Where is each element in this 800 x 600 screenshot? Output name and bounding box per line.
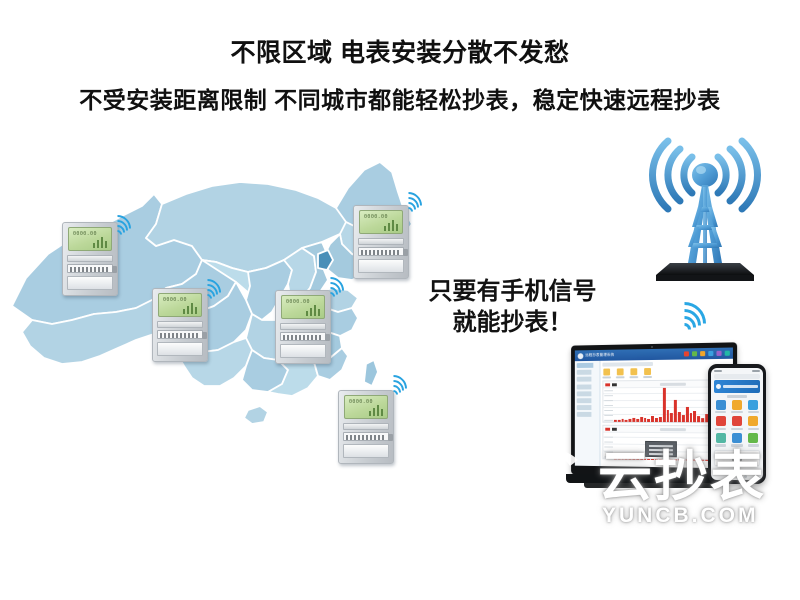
app-logo-icon [716, 384, 721, 389]
bar [629, 419, 632, 422]
poster-canvas: 不限区域 电表安装分散不发愁 不受安装距离限制 不同城市都能轻松抄表，稳定快速远… [0, 0, 800, 600]
app-toolbar-icons [684, 351, 730, 357]
status-bar [711, 368, 763, 373]
watermark-brand: 云抄表 [598, 448, 766, 506]
bar [674, 400, 677, 422]
bar [625, 420, 628, 422]
cell-tower-svg [640, 135, 770, 285]
meter-register [157, 330, 203, 339]
wifi-icon [664, 302, 704, 334]
legend-previous-icon [612, 383, 617, 386]
bar [621, 419, 624, 422]
meter-button[interactable] [112, 266, 117, 273]
toolbar-button-print[interactable] [629, 368, 638, 378]
meter-bars-icon [93, 237, 107, 248]
sidebar-item-realtime[interactable] [577, 370, 598, 375]
app-title: 远程抄表管理系统 [585, 353, 614, 358]
app-tile[interactable] [730, 416, 743, 430]
section-title [727, 395, 748, 398]
meter-register [343, 432, 389, 441]
meter-bars-icon [384, 220, 398, 231]
bar [686, 407, 689, 422]
electric-meter-southeast: 0000.00 [338, 390, 394, 464]
camera-icon [651, 346, 653, 348]
slogan-line-1: 只要有手机信号 [410, 276, 615, 307]
phone-app-title [723, 385, 758, 388]
meter-lcd-display: 0000.00 [344, 395, 388, 419]
bar [701, 419, 704, 423]
bar [663, 388, 666, 422]
share-icon[interactable] [725, 351, 730, 356]
app-tile-label [731, 428, 742, 430]
app-logo-icon [578, 353, 584, 359]
meter-button[interactable] [403, 249, 408, 256]
meter-button[interactable] [202, 332, 207, 339]
meter-button[interactable] [388, 434, 393, 441]
meter-nameplate [67, 255, 113, 262]
app-tile-label [715, 428, 726, 430]
export-icon[interactable] [708, 351, 713, 356]
list-icon[interactable] [692, 351, 697, 356]
wifi-icon [395, 193, 421, 215]
chart-title [659, 428, 685, 431]
chart-icon[interactable] [716, 351, 721, 356]
bar [693, 411, 696, 422]
antenna-dome [692, 163, 718, 187]
meter-nameplate [358, 238, 404, 245]
meter-bars-icon [306, 305, 320, 316]
meter-nameplate [280, 323, 326, 330]
bell-icon [748, 416, 758, 426]
report-icon[interactable] [700, 351, 705, 356]
toolbar-button-query[interactable] [602, 369, 611, 379]
bar [636, 419, 639, 422]
bar [690, 413, 693, 422]
cloud-icon [500, 444, 604, 522]
search-input[interactable] [714, 374, 760, 379]
sidebar-item-users[interactable] [577, 384, 598, 389]
bar [644, 418, 647, 422]
bar [648, 419, 651, 422]
wifi-icon [194, 280, 220, 302]
bar [651, 416, 654, 422]
bar [666, 410, 669, 422]
bar [670, 413, 673, 422]
meter-terminal-cover [280, 344, 326, 358]
bar [659, 417, 662, 422]
cell-tower-icon: 基站 [640, 135, 800, 295]
app-tile-label [715, 411, 726, 413]
electric-meter-central: 0000.00 [275, 290, 331, 364]
meter-register [280, 332, 326, 341]
bar [640, 417, 643, 422]
meter-button[interactable] [325, 334, 330, 341]
legend-current-icon [605, 428, 610, 430]
calendar-icon [732, 400, 742, 410]
sidebar-item-logs[interactable] [577, 412, 598, 417]
app-tile-label [748, 428, 759, 430]
meter-bars-icon [369, 405, 383, 416]
chart-title [659, 383, 685, 386]
meter-nameplate [157, 321, 203, 328]
meter-terminal-cover [67, 276, 113, 290]
bar [618, 420, 621, 422]
clock-icon [714, 370, 722, 372]
electric-meter-xinjiang: 0000.00 [62, 222, 118, 296]
bar [614, 420, 617, 422]
headline-line-2: 不受安装距离限制 不同城市都能轻松抄表，稳定快速远程抄表 [0, 86, 800, 114]
sidebar-item-settings[interactable] [577, 405, 598, 410]
app-tile[interactable] [730, 400, 743, 414]
meter-register [358, 247, 404, 256]
electric-meter-northeast: 0000.00 [353, 205, 409, 279]
legend-previous-icon [612, 428, 617, 430]
slogan-line-2: 就能抄表！ [410, 307, 615, 338]
meter-terminal-cover [157, 342, 203, 356]
meter-bars-icon [183, 303, 197, 314]
app-tile[interactable] [747, 416, 760, 430]
signal-icon [752, 370, 760, 372]
meter-register [67, 264, 113, 273]
sidebar-item-tasks[interactable] [577, 391, 598, 396]
sidebar-item-reports[interactable] [577, 398, 598, 403]
report-icon [732, 416, 742, 426]
app-tile[interactable] [714, 400, 727, 414]
watermark-domain: YUNCB.COM [602, 504, 759, 528]
bar [655, 418, 658, 422]
wifi-icon [380, 376, 406, 398]
slogan-text: 只要有手机信号 就能抄表！ [410, 276, 615, 338]
breadcrumb [602, 362, 652, 367]
money-icon [716, 416, 726, 426]
app-tile-label [748, 411, 759, 413]
bar [678, 412, 681, 422]
bar [633, 418, 636, 422]
bar [682, 415, 685, 422]
app-tile[interactable] [747, 400, 760, 414]
headline-line-1: 不限区域 电表安装分散不发愁 [0, 38, 800, 68]
user-icon[interactable] [684, 351, 689, 356]
electric-meter-tibet: 0000.00 [152, 288, 208, 362]
y-axis [604, 390, 613, 422]
tower-frame [688, 185, 722, 263]
wifi-icon [317, 278, 343, 300]
toolbar-button-export[interactable] [616, 368, 625, 378]
meter-terminal-cover [343, 444, 389, 458]
meter-terminal-cover [358, 259, 404, 273]
meter-nameplate [343, 423, 389, 430]
toolbar-button-refresh[interactable] [643, 368, 652, 378]
app-header-banner [714, 380, 760, 393]
bar [697, 416, 700, 422]
sidebar-item-home[interactable] [577, 363, 598, 368]
app-tile[interactable] [714, 416, 727, 430]
tower-base [656, 263, 754, 275]
app-tile-label [731, 411, 742, 413]
watermark: 云抄表 YUNCB.COM [498, 438, 798, 538]
legend-current-icon [605, 383, 610, 386]
sidebar-item-history[interactable] [577, 377, 598, 382]
database-icon [748, 400, 758, 410]
user-icon [716, 400, 726, 410]
wifi-icon [104, 216, 130, 238]
